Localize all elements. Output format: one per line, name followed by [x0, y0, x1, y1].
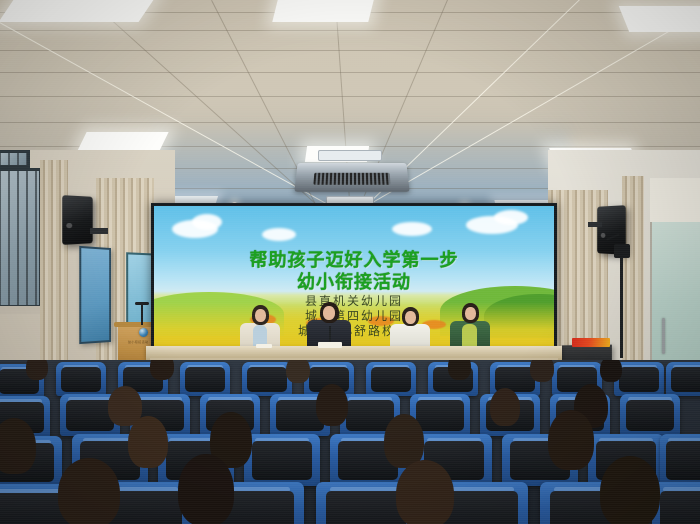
ceiling-light-panel [272, 0, 375, 22]
ceiling-ac-unit [294, 163, 409, 192]
event-materials [572, 338, 610, 347]
seat[interactable] [56, 362, 106, 396]
document [256, 344, 272, 348]
video-camera [614, 244, 630, 258]
seat[interactable] [366, 362, 416, 396]
audience-area [0, 360, 700, 524]
school-emblem-icon [139, 328, 148, 337]
document [318, 342, 342, 348]
seat[interactable] [660, 434, 700, 486]
ceiling-light-panel [77, 132, 168, 151]
cloud [192, 214, 222, 230]
panelist-face [323, 306, 335, 320]
panelist-face [255, 309, 266, 322]
panelist-face [465, 307, 476, 320]
cloud [392, 222, 432, 236]
ceiling-light-panel [619, 6, 700, 32]
ceiling-light-panel [0, 0, 157, 22]
auditorium-photo: 幼小衔接活动 帮助孩子迈好入学第一步 [0, 0, 700, 524]
seat[interactable] [620, 394, 680, 436]
panelist-face [405, 311, 416, 324]
window [0, 168, 42, 308]
podium-microphone [141, 305, 143, 325]
panelist [448, 303, 492, 350]
screen-subtitle-line-3: 城关二小舒路校区 [154, 322, 554, 339]
ac-vent [318, 150, 382, 161]
window-security-bars [0, 171, 39, 305]
seat[interactable] [244, 434, 320, 486]
window [0, 150, 30, 168]
loudspeaker-left [62, 195, 92, 245]
speaker-bracket [588, 222, 602, 227]
notice-board-blue [79, 246, 111, 344]
seat[interactable] [180, 362, 230, 396]
camera-tripod [620, 254, 623, 358]
door-handle[interactable] [662, 318, 665, 354]
led-display-content: 帮助孩子迈好入学第一步 幼小衔接活动 县直机关幼儿园 城关第四幼儿园 城关二小舒… [154, 206, 554, 348]
led-display: 帮助孩子迈好入学第一步 幼小衔接活动 县直机关幼儿园 城关第四幼儿园 城关二小舒… [151, 203, 557, 351]
cloud [494, 210, 528, 225]
podium-microphone-head [135, 302, 149, 305]
screen-title-line-2: 幼小衔接活动 [154, 268, 554, 294]
panelist [388, 307, 432, 350]
seat[interactable] [242, 362, 292, 396]
seat[interactable] [666, 362, 700, 396]
curtain-left [40, 160, 68, 360]
speaker-bracket [90, 228, 108, 234]
cloud [262, 228, 296, 241]
podium-label: 幼小衔接活动 [128, 340, 148, 344]
